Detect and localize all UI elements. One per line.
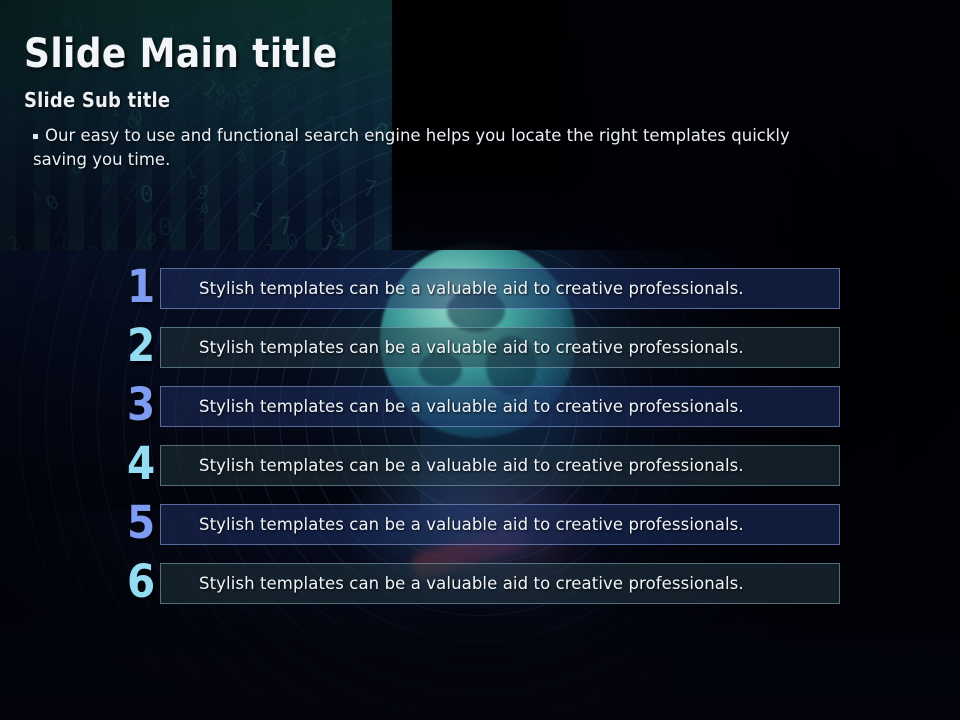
page-title: Slide Main title	[24, 31, 338, 77]
list-item[interactable]: 1Stylish templates can be a valuable aid…	[0, 265, 960, 324]
list-item-bar[interactable]: Stylish templates can be a valuable aid …	[160, 386, 840, 427]
list-item-text: Stylish templates can be a valuable aid …	[161, 574, 744, 593]
list-item-bar[interactable]: Stylish templates can be a valuable aid …	[160, 268, 840, 309]
list-item[interactable]: 4Stylish templates can be a valuable aid…	[0, 442, 960, 501]
list-item-number: 1	[127, 263, 154, 310]
list-item-number: 2	[127, 322, 154, 369]
numbered-list: 1Stylish templates can be a valuable aid…	[0, 265, 960, 619]
list-item-bar[interactable]: Stylish templates can be a valuable aid …	[160, 327, 840, 368]
slide-content: Slide Main title Slide Sub title Our eas…	[0, 0, 960, 720]
intro-bullet-text: Our easy to use and functional search en…	[33, 126, 790, 169]
list-item-bar[interactable]: Stylish templates can be a valuable aid …	[160, 445, 840, 486]
list-item-text: Stylish templates can be a valuable aid …	[161, 279, 744, 298]
intro-bullet: Our easy to use and functional search en…	[33, 124, 793, 172]
list-item-text: Stylish templates can be a valuable aid …	[161, 397, 744, 416]
list-item-text: Stylish templates can be a valuable aid …	[161, 338, 744, 357]
list-item-number: 4	[127, 440, 154, 487]
list-item-bar[interactable]: Stylish templates can be a valuable aid …	[160, 563, 840, 604]
list-item[interactable]: 3Stylish templates can be a valuable aid…	[0, 383, 960, 442]
list-item-number: 6	[127, 558, 154, 605]
list-item-text: Stylish templates can be a valuable aid …	[161, 515, 744, 534]
list-item-number: 5	[127, 499, 154, 546]
list-item[interactable]: 2Stylish templates can be a valuable aid…	[0, 324, 960, 383]
bullet-square-icon	[33, 134, 38, 139]
list-item-number: 3	[127, 381, 154, 428]
page-subtitle: Slide Sub title	[24, 88, 170, 112]
slide-canvas: 0990209721110711991220010927102700020017…	[0, 0, 960, 720]
list-item-text: Stylish templates can be a valuable aid …	[161, 456, 744, 475]
list-item[interactable]: 5Stylish templates can be a valuable aid…	[0, 501, 960, 560]
list-item[interactable]: 6Stylish templates can be a valuable aid…	[0, 560, 960, 619]
list-item-bar[interactable]: Stylish templates can be a valuable aid …	[160, 504, 840, 545]
